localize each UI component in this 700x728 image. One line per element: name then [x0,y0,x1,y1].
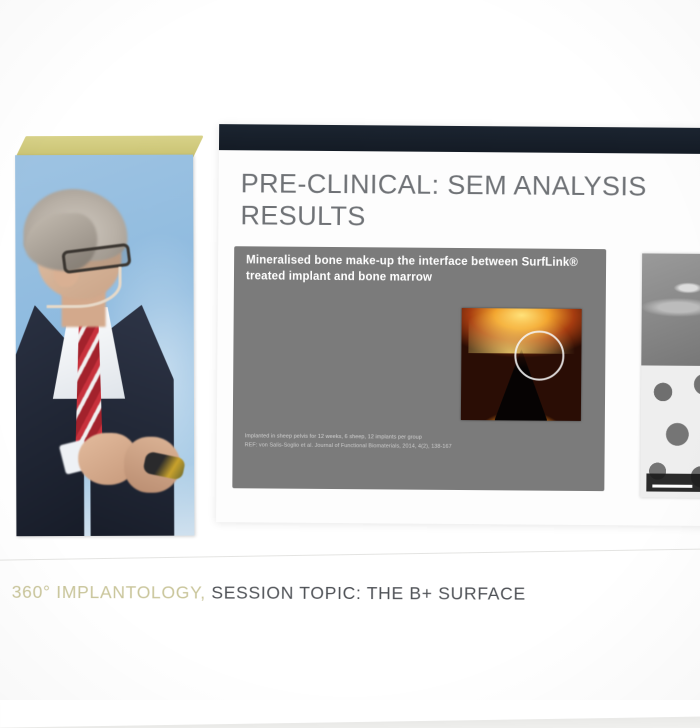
speaker-photo [15,155,194,537]
sem-porous-bone-micrograph [640,253,700,498]
presentation-page: PRE-CLINICAL: SEM ANALYSIS RESULTS Miner… [0,0,700,728]
slide-title-line-1: PRE-CLINICAL: SEM ANALYSIS [241,168,647,201]
content-box-footnote: Implanted in sheep pelvis for 12 weeks, … [245,432,595,454]
content-box-heading: Mineralised bone make-up the interface b… [246,252,592,287]
sem-backscatter-micrograph [461,308,582,421]
banner-divider [0,548,700,561]
slide-title-line-2: RESULTS [240,200,700,236]
slide-title: PRE-CLINICAL: SEM ANALYSIS RESULTS [240,168,700,236]
slide-top-bar [219,124,700,154]
footnote-reference: REF: von Salis-Soglio et al. Journal of … [245,442,595,454]
banner-topic-text: SESSION TOPIC: THE B+ SURFACE [211,583,526,604]
sem-scale-bar [646,473,700,492]
sem-implant-surface [641,253,700,376]
bottom-banner: 360° IMPLANTOLOGY, SESSION TOPIC: THE B+… [0,582,700,606]
speaker-video-panel [15,136,194,537]
page-left-edge [0,0,1,728]
slide-content-box: Mineralised bone make-up the interface b… [232,246,606,491]
banner-brand-text: 360° IMPLANTOLOGY, [12,582,206,603]
presentation-slide: PRE-CLINICAL: SEM ANALYSIS RESULTS Miner… [216,124,700,526]
